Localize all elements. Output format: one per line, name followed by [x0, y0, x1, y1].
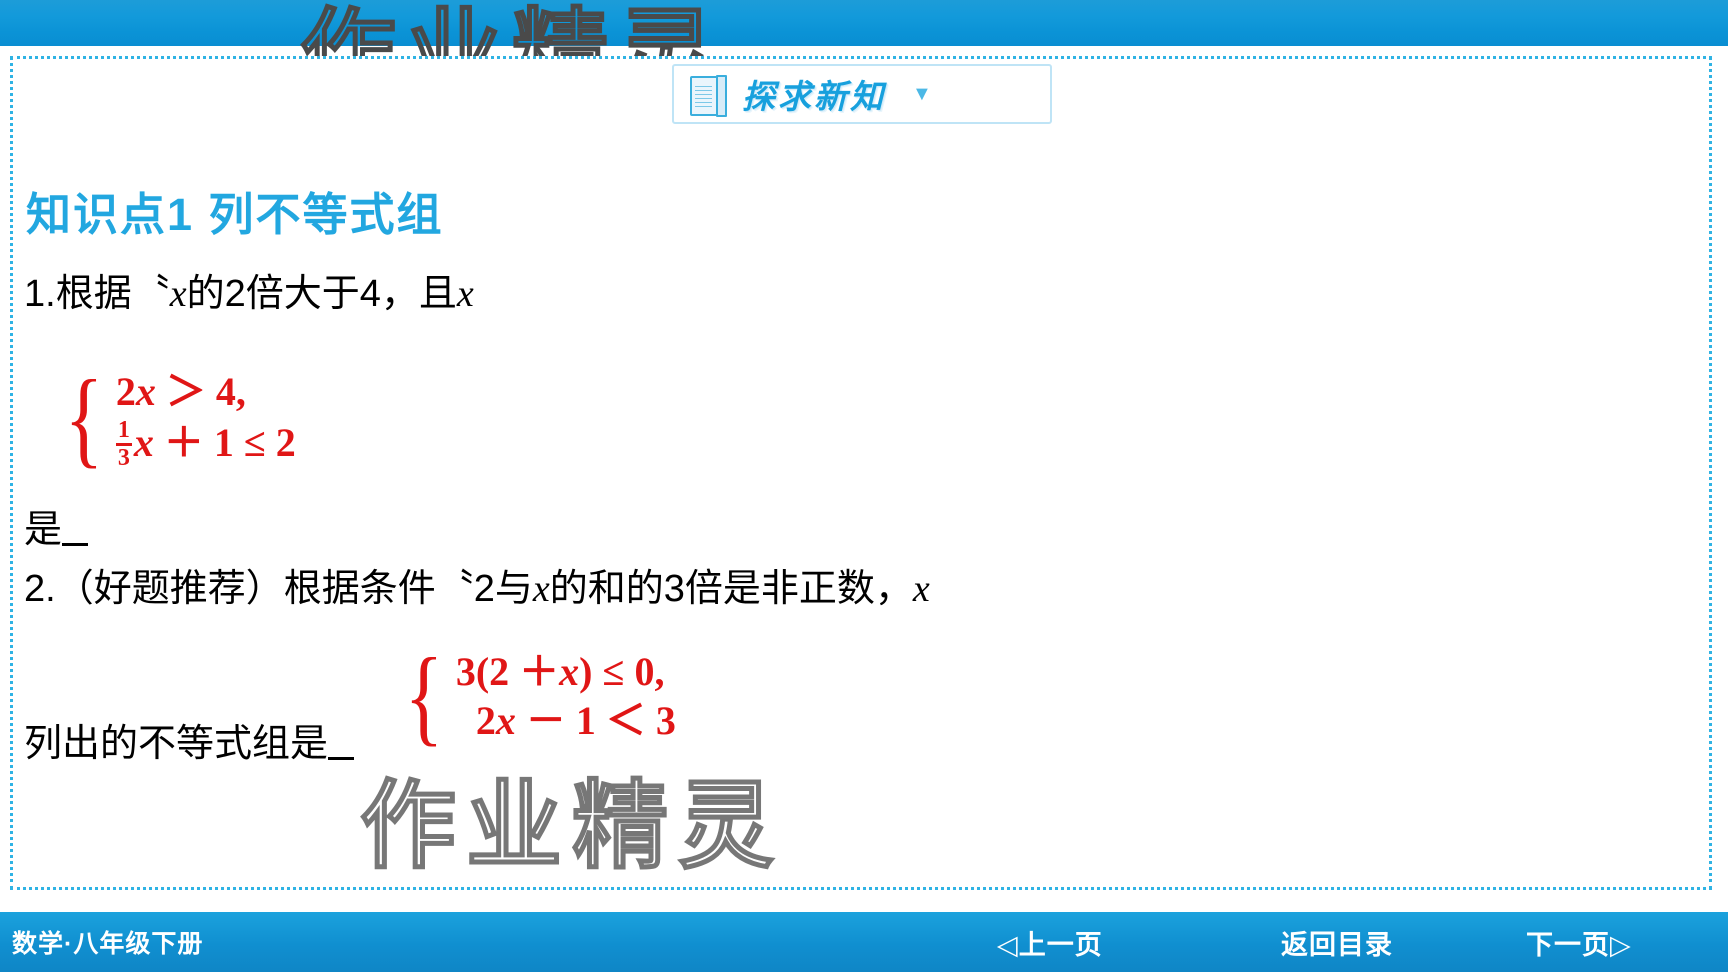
m2r2-var: x [496, 697, 516, 746]
m2r2-rel: ＜ [606, 697, 646, 746]
m2r1-lhs-end: ) [579, 648, 592, 697]
math-system-1-row-2: 1 3 x ＋ 1 ≤ 2 [116, 417, 296, 470]
chevron-down-icon[interactable]: ▼ [912, 84, 932, 104]
m2r2-term: 1 [576, 697, 596, 746]
m1r1-var: x [136, 368, 156, 417]
notebook-pen-icon [684, 71, 730, 117]
section-header-title: 探求新知 [742, 70, 886, 118]
next-page-button[interactable]: 下一页▷ [1526, 923, 1632, 962]
m1r2-fraction: 1 3 [116, 418, 132, 471]
math-system-1-row-1: 2x ＞ 4, [116, 368, 296, 417]
m1r1-rhs: 4, [216, 368, 246, 417]
m1r2-term: 1 [214, 419, 234, 468]
m1r2-rel: ≤ [244, 419, 266, 468]
prev-page-button[interactable]: ◁上一页 [997, 923, 1103, 962]
q1-var-1: x [170, 273, 187, 315]
m1r2-denominator: 3 [116, 446, 132, 471]
footer-bar: 数学·八年级下册 ◁上一页 返回目录 下一页▷ [0, 912, 1728, 972]
question-2-text: 2.（好题推荐）根据条件〝2与x的和的3倍是非正数，x [24, 557, 930, 612]
m2r1-var: x [559, 648, 579, 697]
question-2-answer-line: 列出的不等式组是 [24, 712, 354, 767]
math-system-2-row-2: 2x － 1 ＜ 3 [456, 697, 676, 746]
q2-answer-label: 列出的不等式组是 [24, 723, 328, 765]
q1-answer-label: 是 [24, 509, 62, 551]
q2-answer-blank[interactable] [328, 757, 354, 760]
m1r1-rel: ＞ [166, 368, 206, 417]
m2r1-rel: ≤ [603, 648, 625, 697]
q1-var-2: x [457, 273, 474, 315]
m2r1-rhs: 0, [634, 648, 664, 697]
m1r2-op: ＋ [164, 419, 204, 468]
q1-prefix: 1.根据〝 [24, 273, 170, 315]
m2r2-op: － [526, 697, 566, 746]
m1r2-var: x [134, 419, 154, 468]
brace-left-icon: { [64, 377, 103, 461]
m2r2-coef: 2 [476, 697, 496, 746]
q2-var-1: x [533, 568, 550, 610]
math-system-1: { 2x ＞ 4, 1 3 x ＋ 1 ≤ 2 [58, 368, 296, 470]
top-banner [0, 0, 1728, 46]
m2r2-rhs: 3 [656, 697, 676, 746]
q1-mid: 的2倍大于4，且 [187, 273, 457, 315]
m1r2-numerator: 1 [116, 418, 132, 443]
footer-book-label: 数学·八年级下册 [12, 924, 203, 960]
section-header[interactable]: 探求新知 ▼ [672, 64, 1052, 124]
q2-mid: 的和的3倍是非正数， [550, 568, 913, 610]
q2-prefix: 2.（好题推荐）根据条件〝2与 [24, 568, 533, 610]
math-system-2: { 3(2 ＋ x) ≤ 0, 2x － 1 ＜ 3 [398, 648, 676, 746]
q2-var-2: x [913, 568, 930, 610]
page-title: 知识点1 列不等式组 [26, 178, 444, 243]
question-1-answer-line: 是 [24, 498, 88, 553]
m2r1-lhs: 3(2 ＋ [456, 648, 559, 697]
brace-left-icon: { [404, 655, 443, 739]
back-to-menu-button[interactable]: 返回目录 [1281, 923, 1393, 962]
math-system-2-row-1: 3(2 ＋ x) ≤ 0, [456, 648, 676, 697]
question-1-text: 1.根据〝x的2倍大于4，且x [24, 262, 474, 317]
m1r1-coef: 2 [116, 368, 136, 417]
m1r2-rhs: 2 [276, 419, 296, 468]
q1-answer-blank[interactable] [62, 543, 88, 546]
